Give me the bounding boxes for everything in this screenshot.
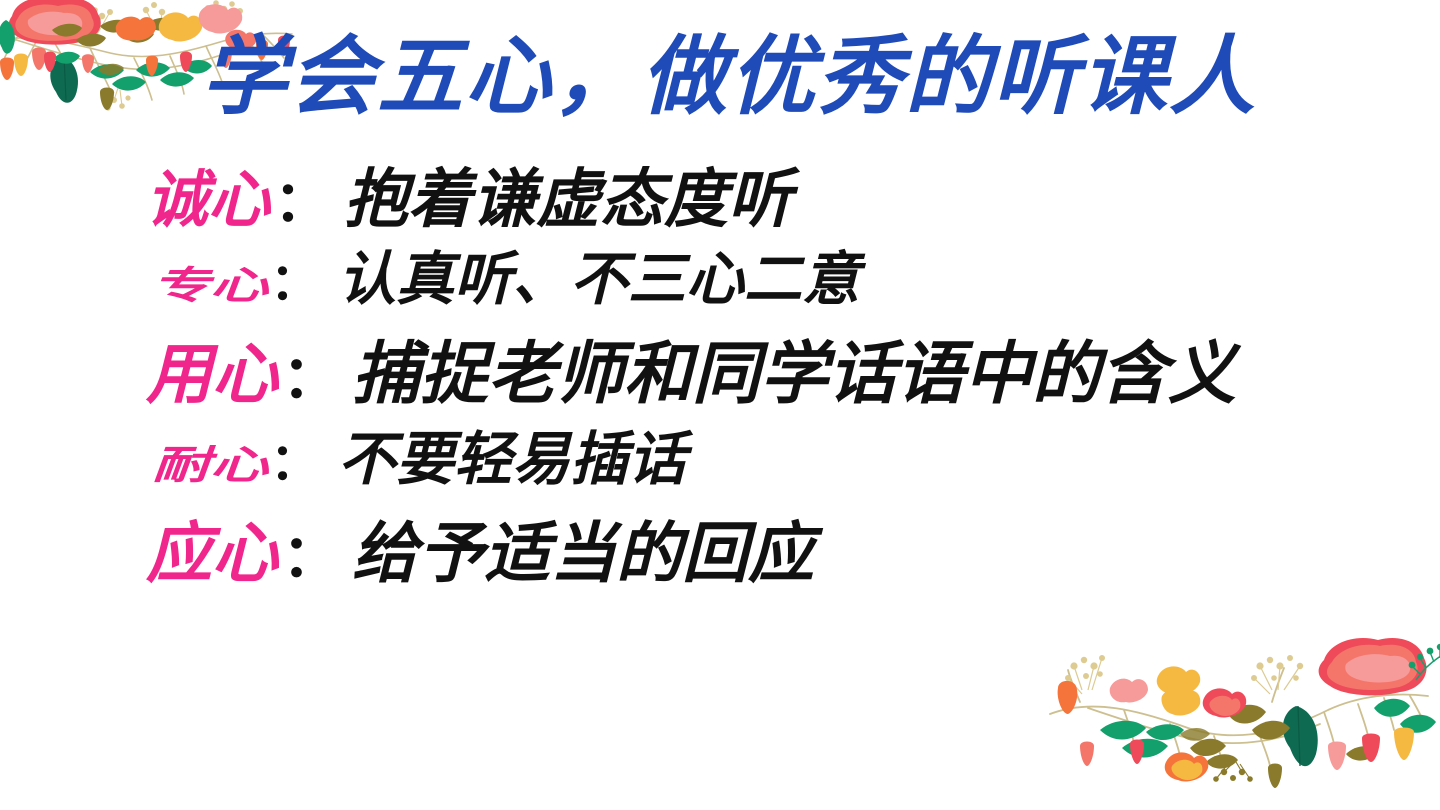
- list-item-label: 专心: [152, 254, 268, 309]
- floral-garland-bottom-right-icon: [1028, 636, 1440, 810]
- list-item-label: 用心: [146, 321, 278, 417]
- list-item-text: 给予适当的回应: [352, 500, 814, 596]
- list-item-yongxin: 用心 ： 捕捉老师和同学话语中的含义: [0, 318, 1440, 412]
- list-item-yingxin: 应心 ： 给予适当的回应: [0, 500, 1440, 592]
- list-item-text: 抱着谦虚态度听: [344, 148, 792, 240]
- list-item-text: 认真听、不三心二意: [338, 232, 860, 316]
- content-list: 诚心 ： 抱着谦虚态度听 专心 ： 认真听、不三心二意 用心 ： 捕捉老师和同学…: [0, 148, 1440, 592]
- list-item-colon: ：: [268, 242, 338, 314]
- list-item-chengxin: 诚心 ： 抱着谦虚态度听: [0, 148, 1440, 232]
- list-item-colon: ：: [278, 330, 352, 414]
- list-item-colon: ：: [268, 422, 338, 494]
- slide-canvas: 学会五心，做优秀的听课人 诚心 ： 抱着谦虚态度听 专心 ： 认真听、不三心二意…: [0, 0, 1440, 810]
- list-item-label: 诚心: [146, 149, 270, 239]
- list-item-text: 不要轻易插话: [338, 412, 686, 496]
- list-item-label: 耐心: [152, 433, 268, 490]
- list-item-colon: ：: [278, 509, 352, 593]
- list-item-zhuanxin: 专心 ： 认真听、不三心二意: [0, 232, 1440, 318]
- slide-title: 学会五心，做优秀的听课人: [0, 34, 1440, 120]
- list-item-label: 应心: [146, 500, 278, 596]
- list-item-naixin: 耐心 ： 不要轻易插话: [0, 412, 1440, 500]
- list-item-text: 捕捉老师和同学话语中的含义: [352, 318, 1236, 417]
- list-item-colon: ：: [270, 157, 344, 238]
